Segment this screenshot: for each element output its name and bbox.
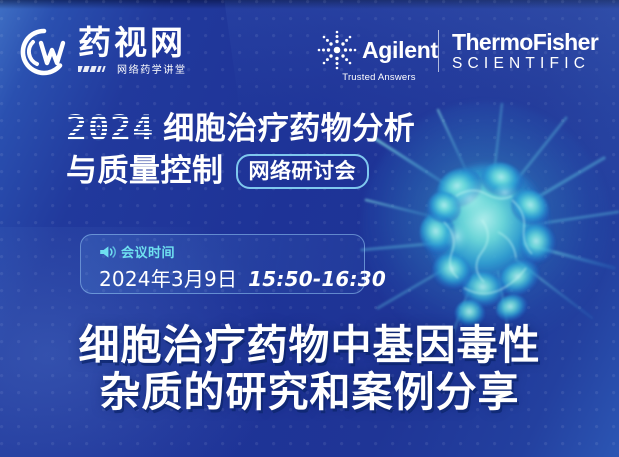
agilent-starburst-icon <box>314 27 360 73</box>
site-logo-words: 药视网 网络药学讲堂 <box>78 26 187 76</box>
agilent-tagline: Trusted Answers <box>322 72 436 83</box>
topic-headline-line-2: 杂质的研究和案例分享 <box>0 369 619 416</box>
meeting-time-range: 15:50-16:30 <box>248 267 386 291</box>
webinar-badge: 网络研讨会 <box>236 154 370 189</box>
meeting-time-label: 会议时间 <box>121 242 175 261</box>
logo-divider <box>438 30 439 72</box>
agilent-logo[interactable]: Agilent Trusted Answers <box>314 27 436 83</box>
poster-header: 药视网 网络药学讲堂 <box>0 0 619 96</box>
site-logo-name: 药视网 <box>78 26 187 60</box>
event-title-text-1: 细胞治疗药物分析 <box>163 108 415 150</box>
speed-lines-icon <box>78 65 112 73</box>
agilent-logo-row: Agilent <box>314 27 436 73</box>
thermofisher-name: ThermoFisher <box>452 30 598 55</box>
meeting-time-box: 会议时间 2024年3月9日 15:50-16:30 <box>80 234 365 294</box>
meeting-time-label-row: 会议时间 <box>99 242 364 261</box>
site-logo-subrow: 网络药学讲堂 <box>78 61 187 76</box>
site-logo[interactable]: 药视网 网络药学讲堂 <box>16 26 187 78</box>
event-title-line-1: 2024 细胞治疗药物分析 <box>66 108 496 150</box>
thermofisher-logo[interactable]: ThermoFisher SCIENTIFIC <box>452 30 598 73</box>
event-title: 2024 细胞治疗药物分析 与质量控制 网络研讨会 <box>66 108 496 192</box>
event-title-line-2: 与质量控制 网络研讨会 <box>66 150 496 192</box>
meeting-time-value-row: 2024年3月9日 15:50-16:30 <box>99 263 364 292</box>
agilent-name: Agilent <box>362 37 438 64</box>
site-logo-tagline: 网络药学讲堂 <box>117 61 187 76</box>
thermofisher-tagline: SCIENTIFIC <box>452 55 598 73</box>
event-title-text-2: 与质量控制 <box>66 150 224 192</box>
meeting-date: 2024年3月9日 <box>99 263 237 292</box>
topic-headline: 细胞治疗药物中基因毒性 杂质的研究和案例分享 <box>0 322 619 416</box>
topic-headline-line-1: 细胞治疗药物中基因毒性 <box>0 322 619 369</box>
circle-w-monogram-icon <box>16 26 72 78</box>
event-year: 2024 <box>66 109 154 149</box>
megaphone-icon <box>99 245 116 259</box>
webinar-poster: 药视网 网络药学讲堂 <box>0 0 619 457</box>
